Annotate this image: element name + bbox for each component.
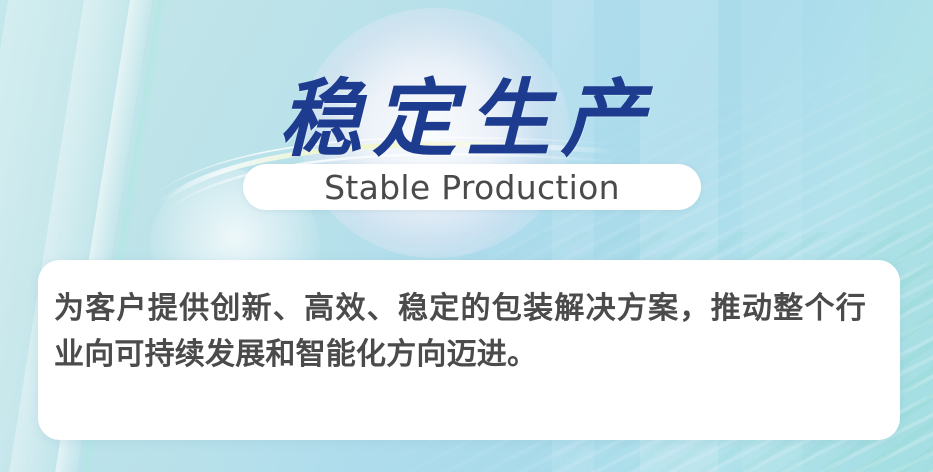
page-title: 稳定生产 (0, 74, 933, 165)
description-card: 为客户提供创新、高效、稳定的包装解决方案，推动整个行业向可持续发展和智能化方向迈… (38, 260, 900, 440)
stable-production-banner: 稳定生产 Stable Production 为客户提供创新、高效、稳定的包装解… (0, 0, 933, 472)
subtitle-pill: Stable Production (243, 164, 701, 210)
subtitle-label: Stable Production (324, 171, 620, 204)
description-text: 为客户提供创新、高效、稳定的包装解决方案，推动整个行业向可持续发展和智能化方向迈… (54, 286, 866, 377)
